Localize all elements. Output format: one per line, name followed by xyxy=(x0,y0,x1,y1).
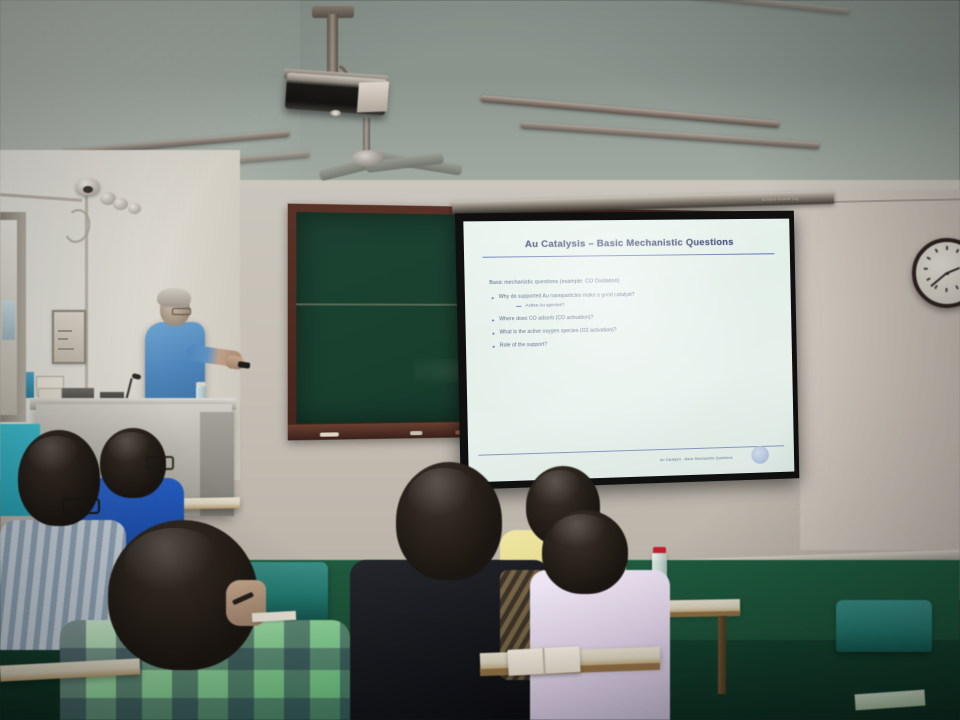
desk-leg xyxy=(718,616,726,694)
slide-footer-text: Au Catalysis - Basic Mechanistic Questio… xyxy=(660,456,732,462)
panel-detail-line xyxy=(58,330,72,332)
attendee-lavender-shirt-torso xyxy=(530,570,670,720)
slide-title: Au Catalysis – Basic Mechanistic Questio… xyxy=(480,236,776,250)
slide-lead-text: Basic mechanistic questions (example: CO… xyxy=(489,276,777,286)
clock-tick xyxy=(956,285,959,289)
wall-electrical-panel[interactable] xyxy=(52,310,86,364)
panel-detail-line xyxy=(58,348,74,350)
clock-tick xyxy=(935,285,938,289)
glasses-icon xyxy=(62,498,100,514)
door-glass-panel xyxy=(2,300,15,340)
chalk-stick xyxy=(410,431,422,435)
ceiling-fan-rod xyxy=(363,118,370,154)
ceiling-fan-hub xyxy=(352,150,384,166)
slide-bullet: Role of the support? xyxy=(493,337,779,349)
hair-highlight xyxy=(534,470,586,510)
slide-bullet: Where does CO adsorb (CO activation)? xyxy=(492,311,778,322)
clock-hour-hand xyxy=(947,267,960,274)
wall-speaker-icon xyxy=(128,203,141,214)
glasses-icon xyxy=(172,308,191,315)
analog-wall-clock xyxy=(912,238,960,308)
lecture-hall-photo: screen-brand-tag Au Catalysis – Basic Me… xyxy=(0,0,960,720)
institution-seal-icon xyxy=(751,446,769,464)
clock-tick xyxy=(946,246,948,250)
clock-tick xyxy=(935,249,938,253)
slide-bullet: What is the active oxygen species (O2 ac… xyxy=(492,324,778,335)
slide-sub-bullet: Active Au species? xyxy=(516,299,777,308)
clock-tick xyxy=(927,257,931,260)
camera-lens-icon xyxy=(83,186,93,193)
clock-tick xyxy=(927,278,931,281)
hair-highlight xyxy=(124,528,224,598)
hair-highlight xyxy=(28,436,84,478)
clock-tick xyxy=(924,268,928,270)
presenter-hair xyxy=(157,288,191,307)
chalk-stick xyxy=(320,432,339,436)
clock-tick xyxy=(956,249,959,253)
clock-tick xyxy=(946,288,948,292)
clock-face xyxy=(916,242,960,304)
projection-screen: Au Catalysis – Basic Mechanistic Questio… xyxy=(455,211,799,490)
projector-side-panel xyxy=(357,82,389,113)
slide-title-rule xyxy=(483,253,775,258)
projector-lens-icon xyxy=(330,110,341,116)
slide-bullet-list: Where does CO adsorb (CO activation)? Wh… xyxy=(492,311,778,348)
screen-brand-tag: screen-brand-tag xyxy=(762,195,812,203)
lecture-chair xyxy=(836,600,932,652)
presentation-slide: Au Catalysis – Basic Mechanistic Questio… xyxy=(463,219,794,483)
slide-footer-rule xyxy=(479,445,785,455)
clock-center-pin xyxy=(946,272,949,275)
hair-highlight xyxy=(408,468,480,524)
glasses-icon xyxy=(146,456,174,470)
wall-speaker-icon xyxy=(113,198,128,210)
hair-highlight xyxy=(552,514,612,552)
clock-minute-hand xyxy=(930,272,947,287)
panel-detail-line xyxy=(58,338,68,340)
projection-screen-surface: Au Catalysis – Basic Mechanistic Questio… xyxy=(463,219,794,483)
